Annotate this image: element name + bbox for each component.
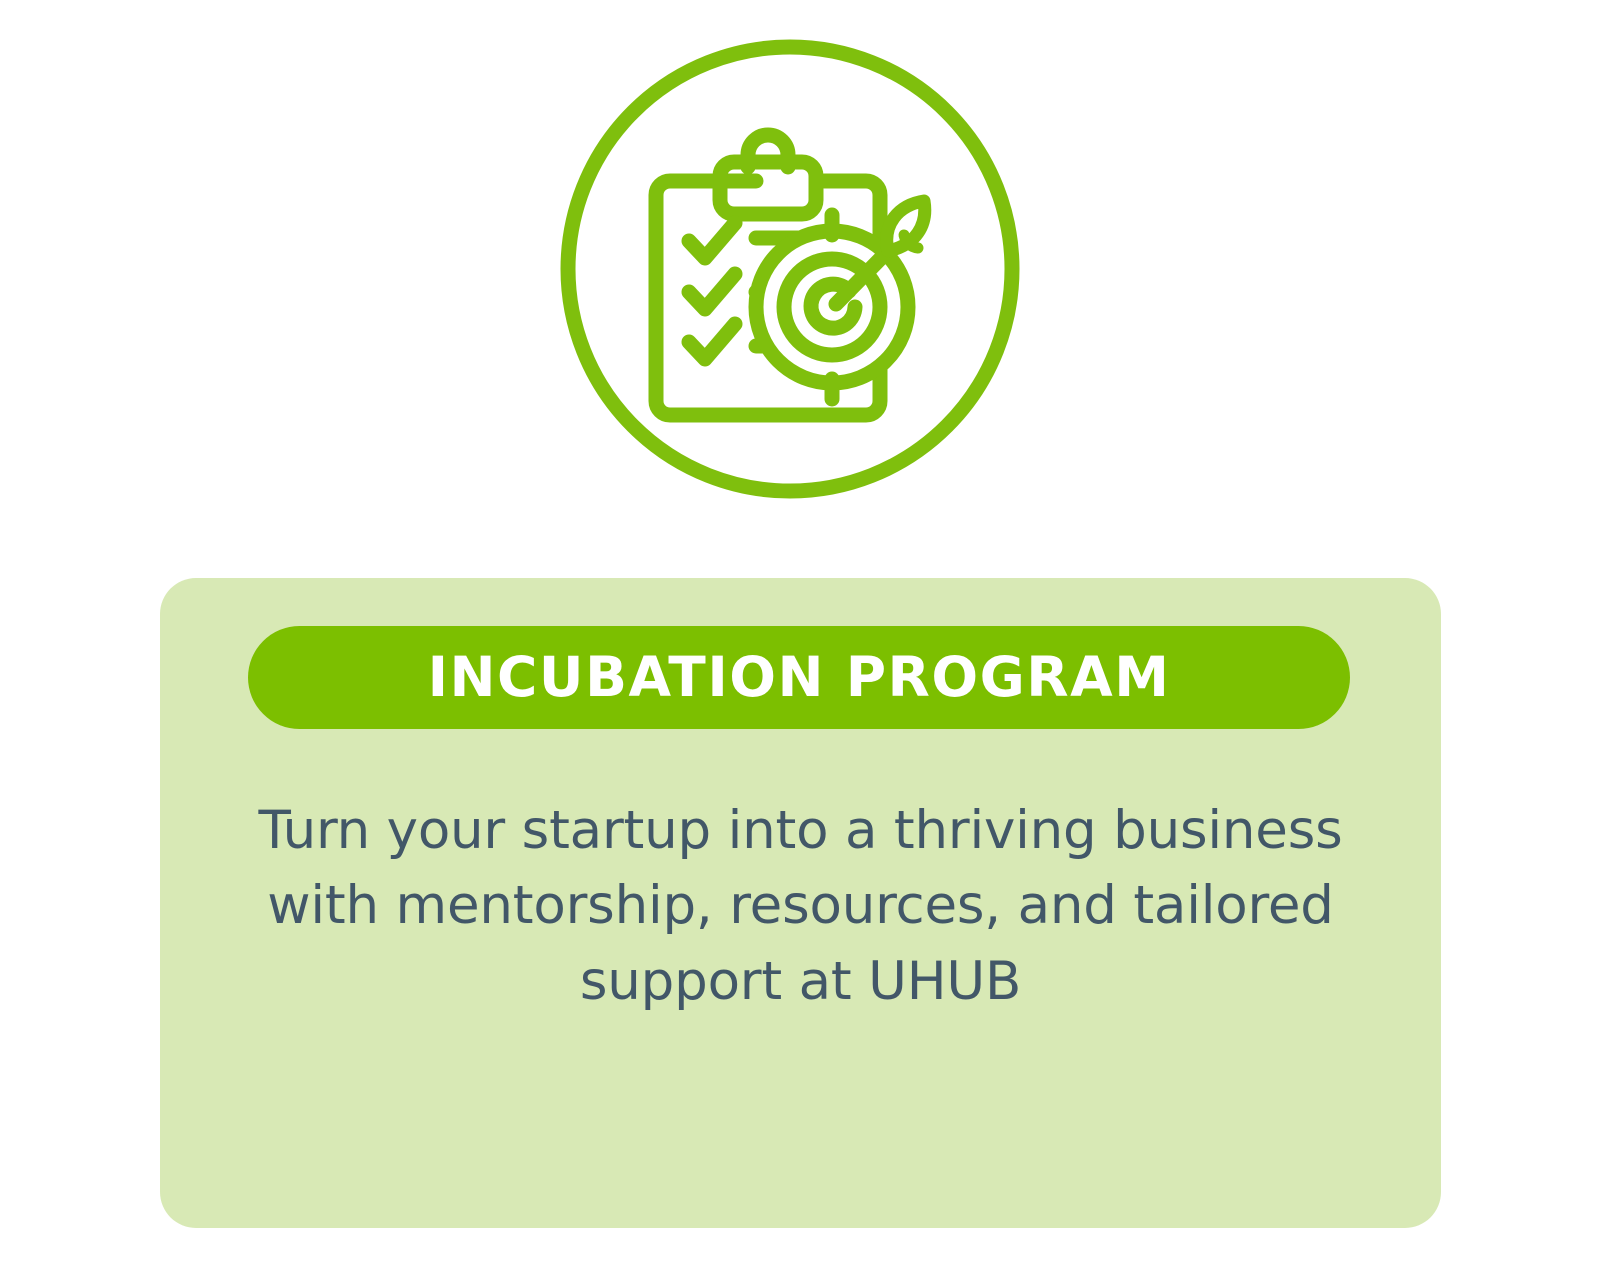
checkmark-3-icon: [689, 324, 735, 359]
page-root: Incubation Program Turn your startup int…: [0, 0, 1600, 1280]
incubation-program-card: Incubation Program Turn your startup int…: [160, 578, 1441, 1228]
card-body: Turn your startup into a thriving busine…: [220, 793, 1381, 1019]
clipboard-checklist-target-icon: [560, 39, 1020, 499]
card-description-text: Turn your startup into a thriving busine…: [220, 793, 1381, 1019]
checkmark-2-icon: [689, 274, 735, 309]
program-title-label: Incubation Program: [428, 650, 1171, 705]
program-title-pill[interactable]: Incubation Program: [248, 626, 1350, 729]
checkmark-1-icon: [689, 223, 735, 258]
